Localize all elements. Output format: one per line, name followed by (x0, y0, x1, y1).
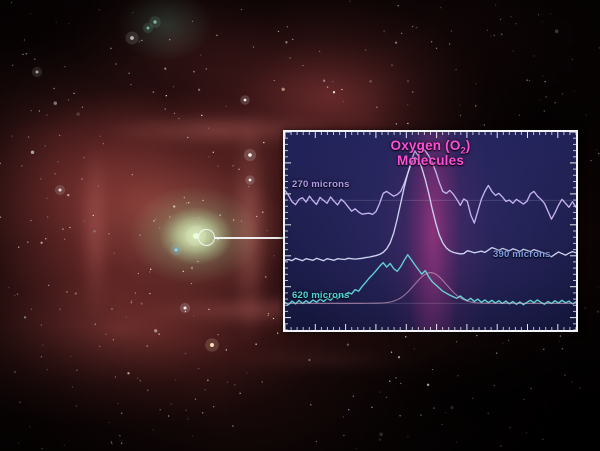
observation-target-circle (198, 229, 215, 246)
series-label-390-microns: 390 microns (493, 249, 551, 260)
screenshot-root: Oxygen (O2) Molecules 270 microns 390 mi… (0, 0, 600, 451)
chart-title-line-2: Molecules (285, 153, 576, 168)
callout-leader-line (215, 237, 283, 239)
spectrum-inset-panel: Oxygen (O2) Molecules 270 microns 390 mi… (283, 130, 578, 332)
series-label-270-microns: 270 microns (292, 179, 350, 190)
series-label-620-microns: 620 microns (292, 290, 350, 301)
